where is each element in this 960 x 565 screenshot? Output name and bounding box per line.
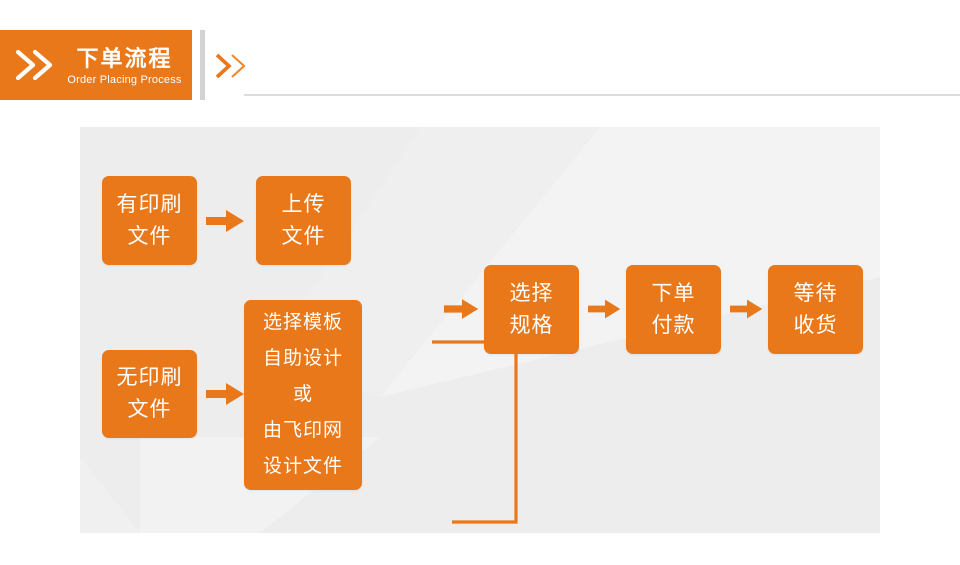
page-header: 下单流程 Order Placing Process xyxy=(0,30,960,100)
flow-node-line: 下单 xyxy=(652,278,696,310)
header-divider xyxy=(200,30,205,100)
flow-node-line: 自助设计 xyxy=(263,341,343,377)
flow-node-line: 或 xyxy=(293,377,313,413)
arrow-right-icon xyxy=(444,296,480,322)
header-rule xyxy=(244,94,960,96)
double-chevron-right-icon xyxy=(16,49,56,81)
header-title-block: 下单流程 Order Placing Process xyxy=(0,30,192,100)
flow-node-line: 选择 xyxy=(510,278,554,310)
flow-node-line: 文件 xyxy=(128,221,172,253)
flow-node-line: 无印刷 xyxy=(117,362,183,394)
flow-node-line: 规格 xyxy=(510,310,554,342)
flow-node-line: 设计文件 xyxy=(263,449,343,485)
page-title: 下单流程 xyxy=(76,45,172,73)
bracket-connector-icon xyxy=(430,337,522,527)
arrow-right-icon xyxy=(588,296,622,322)
flow-node-line: 收货 xyxy=(794,310,838,342)
flowchart-panel xyxy=(80,127,880,533)
double-chevron-right-icon xyxy=(214,52,250,80)
flow-node-line: 文件 xyxy=(282,221,326,253)
flow-node-has-print-file[interactable]: 有印刷 文件 xyxy=(102,176,197,265)
header-text-group: 下单流程 Order Placing Process xyxy=(62,38,187,94)
flow-node-line: 选择模板 xyxy=(263,305,343,341)
flow-node-line: 付款 xyxy=(652,310,696,342)
flow-node-place-order-pay[interactable]: 下单 付款 xyxy=(626,265,721,354)
page-subtitle: Order Placing Process xyxy=(67,73,181,88)
flow-node-choose-spec[interactable]: 选择 规格 xyxy=(484,265,579,354)
flow-node-upload-file[interactable]: 上传 文件 xyxy=(256,176,351,265)
flow-node-line: 文件 xyxy=(128,394,172,426)
flow-node-design-options[interactable]: 选择模板 自助设计 或 由飞印网 设计文件 xyxy=(244,300,362,490)
flow-node-line: 由飞印网 xyxy=(263,413,343,449)
flow-node-wait-delivery[interactable]: 等待 收货 xyxy=(768,265,863,354)
arrow-right-icon xyxy=(206,381,246,407)
arrow-right-icon xyxy=(730,296,764,322)
flow-node-no-print-file[interactable]: 无印刷 文件 xyxy=(102,350,197,438)
flow-node-line: 等待 xyxy=(794,278,838,310)
arrow-right-icon xyxy=(206,208,246,234)
flow-node-line: 有印刷 xyxy=(117,189,183,221)
flow-node-line: 上传 xyxy=(282,189,326,221)
